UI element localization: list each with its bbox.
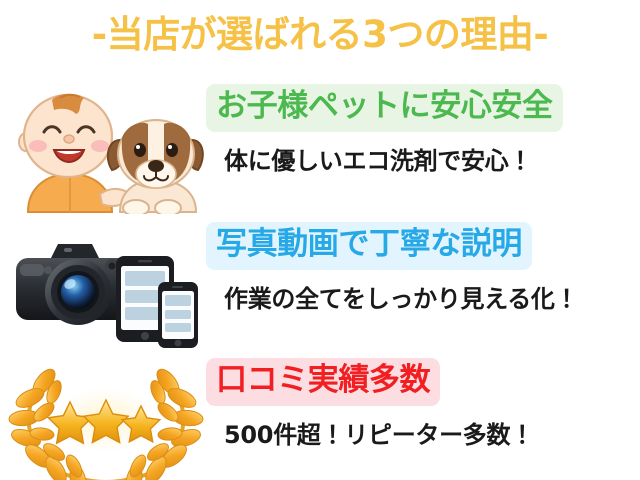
reason-2-text: 写真動画で丁寧な説明 作業の全てをしっかり見える化！ <box>206 222 636 352</box>
reason-2-headline: 写真動画で丁寧な説明 <box>206 222 532 270</box>
reason-row-3: 口コミ実績多数 500件超！リピーター多数！ <box>0 358 640 480</box>
reason-2-subline: 作業の全てをしっかり見える化！ <box>224 279 636 314</box>
reason-3-subline: 500件超！リピーター多数！ <box>224 415 636 450</box>
reason-1-subline: 体に優しいエコ洗剤で安心！ <box>224 141 636 176</box>
page-title: -当店が選ばれる3つの理由- <box>0 12 640 58</box>
reason-3-headline: 口コミ実績多数 <box>206 358 440 406</box>
banner-root: -当店が選ばれる3つの理由- <box>0 0 640 480</box>
reason-1-headline: お子様ペットに安心安全 <box>206 84 563 132</box>
reason-row-1: お子様ペットに安心安全 体に優しいエコ洗剤で安心！ <box>0 84 640 214</box>
camera-tablet-smartphone-illustration <box>8 222 204 352</box>
reason-1-text: お子様ペットに安心安全 体に優しいエコ洗剤で安心！ <box>206 84 636 214</box>
laurel-wreath-three-stars-illustration <box>8 358 204 480</box>
baby-with-puppy-illustration <box>8 84 204 214</box>
reason-row-2: 写真動画で丁寧な説明 作業の全てをしっかり見える化！ <box>0 222 640 352</box>
reason-3-text: 口コミ実績多数 500件超！リピーター多数！ <box>206 358 636 480</box>
